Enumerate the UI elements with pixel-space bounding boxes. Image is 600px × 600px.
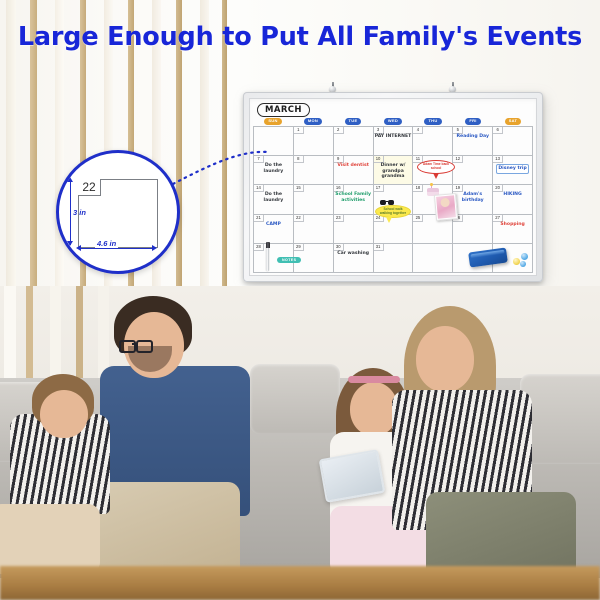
weekday-header-wed: WED xyxy=(373,117,413,126)
calendar-event-text: Disney trip xyxy=(496,164,529,173)
calendar-event-text: CAMP xyxy=(255,222,292,227)
calendar-cell[interactable]: 16School Family activities xyxy=(334,185,374,214)
calendar-event-text: Adam's birthday xyxy=(454,192,491,203)
girl-headband xyxy=(348,376,400,383)
photo-sticker xyxy=(434,193,458,221)
weekday-label: SUN xyxy=(264,118,281,125)
calendar-date-number: 6 xyxy=(493,127,503,134)
calendar-cell[interactable]: 19Adam's birthday xyxy=(453,185,493,214)
calendar-cell[interactable]: 5Reading Day xyxy=(453,127,493,156)
calendar-event-text: Car washing xyxy=(335,251,372,256)
calendar-event-text: School Family activities xyxy=(335,192,372,203)
height-dim-line xyxy=(70,180,71,245)
weekday-header-tue: TUE xyxy=(333,117,373,126)
calendar-event-text: Do the laundry xyxy=(255,192,292,203)
girl-head xyxy=(350,382,398,436)
weekday-header-row: SUNMONTUEWEDTHUFRISAT xyxy=(253,117,533,126)
calendar-date-number: 21 xyxy=(254,215,264,222)
height-arrow-top xyxy=(67,177,73,182)
sofa-cushion-right xyxy=(520,374,600,464)
weekday-header-sun: SUN xyxy=(253,117,293,126)
calendar-cell[interactable]: 20HIKING xyxy=(493,185,533,214)
calendar-date-number: 19 xyxy=(453,185,463,192)
calendar-date-number: 15 xyxy=(294,185,304,192)
calendar-date-number: 20 xyxy=(493,185,503,192)
weekday-label: MON xyxy=(304,118,322,125)
calendar-date-number: 29 xyxy=(294,244,304,251)
calendar-date-number: 27 xyxy=(493,215,503,222)
calendar-cell[interactable] xyxy=(254,127,294,156)
wall-screw-left xyxy=(328,82,337,92)
calendar-cell[interactable]: 9Visit dentist xyxy=(334,156,374,185)
calendar-date-number: 23 xyxy=(334,215,344,222)
calendar-event-text: PAY INTERNET xyxy=(375,134,412,139)
calendar-cell[interactable]: 1 xyxy=(294,127,334,156)
calendar-date-number: 1 xyxy=(294,127,304,134)
calendar-cell[interactable]: 7Do the laundry xyxy=(254,156,294,185)
boy-legs xyxy=(0,504,100,574)
calendar-cell[interactable]: 8 xyxy=(294,156,334,185)
calendar-cell[interactable]: 10Dinner w/ grandpa grandma xyxy=(374,156,414,185)
calendar-cell[interactable]: 21CAMP xyxy=(254,215,294,244)
calendar-cell[interactable]: 14Do the laundry xyxy=(254,185,294,214)
calendar-date-number: 7 xyxy=(254,156,264,163)
calendar-date-number: 8 xyxy=(294,156,304,163)
sticky-note-yellow[interactable]: School walk walking together xyxy=(375,205,411,218)
calendar-cell[interactable]: 31 xyxy=(374,244,414,273)
calendar-date-number: 12 xyxy=(453,156,463,163)
calendar-cell[interactable]: 4 xyxy=(413,127,453,156)
calendar-date-number: 18 xyxy=(413,185,423,192)
width-arrow-left xyxy=(76,245,81,251)
calendar-cell[interactable]: 6 xyxy=(493,127,533,156)
calendar-cell[interactable] xyxy=(413,244,453,273)
board-surface: MARCH SUNMONTUEWEDTHUFRISAT 123PAY INTER… xyxy=(249,98,537,276)
calendar-event-text: Dinner w/ grandpa grandma xyxy=(375,163,412,179)
calendar-date-number: 14 xyxy=(254,185,264,192)
month-title: MARCH xyxy=(257,103,310,117)
sticky-note-red-tail xyxy=(433,173,439,179)
width-dimension-label: 4.6 in xyxy=(95,239,118,248)
weekday-header-thu: THU xyxy=(413,117,453,126)
mother-head xyxy=(416,326,474,392)
weekday-label: FRI xyxy=(465,118,480,125)
calendar-cell[interactable]: 15 xyxy=(294,185,334,214)
calendar-date-number: 2 xyxy=(334,127,344,134)
height-arrow-bottom xyxy=(67,241,73,246)
calendar-event-text: Reading Day xyxy=(454,134,491,139)
calendar-date-number: 31 xyxy=(374,244,384,251)
weekday-header-mon: MON xyxy=(293,117,333,126)
calendar-cell[interactable]: 2 xyxy=(334,127,374,156)
calendar-date-number: 17 xyxy=(374,185,384,192)
calendar-date-number: 13 xyxy=(493,156,503,163)
calendar-cell[interactable]: 12 xyxy=(453,156,493,185)
magnified-date-number: 22 xyxy=(78,179,101,196)
sofa-cushion-center xyxy=(250,364,340,434)
calendar-date-number: 3 xyxy=(374,127,384,134)
calendar-cell[interactable]: 24 xyxy=(374,215,414,244)
page-title: Large Enough to Put All Family's Events xyxy=(0,22,600,52)
calendar-date-number: 4 xyxy=(413,127,423,134)
calendar-cell[interactable]: 22 xyxy=(294,215,334,244)
weekday-label: TUE xyxy=(345,118,362,125)
family-lifestyle-photo xyxy=(0,286,600,600)
calendar-cell[interactable]: 26 xyxy=(453,215,493,244)
width-arrow-right xyxy=(152,245,157,251)
wall-screw-right xyxy=(448,82,457,92)
sticky-note-yellow-tail xyxy=(386,217,392,223)
magnet-yellow[interactable] xyxy=(513,258,520,265)
dry-erase-marker[interactable] xyxy=(266,246,269,271)
magnet-blue-2[interactable] xyxy=(520,261,526,267)
coffee-table-edge xyxy=(0,566,600,600)
boy-head xyxy=(40,390,88,438)
width-dim-line xyxy=(80,248,154,249)
dimension-magnifier-callout: 22 3 in 4.6 in xyxy=(56,150,180,274)
calendar-cell[interactable]: 23 xyxy=(334,215,374,244)
calendar-event-text: Shopping xyxy=(494,222,531,227)
calendar-event-text: HIKING xyxy=(494,192,531,197)
calendar-date-number: 25 xyxy=(413,215,423,222)
height-dimension-label: 3 in xyxy=(73,208,86,217)
calendar-date-number: 5 xyxy=(453,127,463,134)
calendar-event-text: Do the laundry xyxy=(255,163,292,174)
calendar-date-number: 30 xyxy=(334,244,344,251)
calendar-cell[interactable]: 3PAY INTERNET xyxy=(374,127,414,156)
product-image-stage: Large Enough to Put All Family's Events … xyxy=(0,0,600,600)
notes-section-label: NOTES xyxy=(277,257,301,263)
calendar-cell[interactable]: 27Shopping xyxy=(493,215,533,244)
magnet-blue-1[interactable] xyxy=(521,253,528,260)
weekday-label: WED xyxy=(384,118,402,125)
calendar-cell[interactable]: 30Car washing xyxy=(334,244,374,273)
dry-erase-calendar-board[interactable]: MARCH SUNMONTUEWEDTHUFRISAT 123PAY INTER… xyxy=(243,92,543,282)
weekday-label: THU xyxy=(424,118,441,125)
calendar-cell[interactable]: 13Disney trip xyxy=(493,156,533,185)
calendar-date-number: 28 xyxy=(254,244,264,251)
calendar-event-text: Visit dentist xyxy=(335,163,372,168)
weekday-header-fri: FRI xyxy=(453,117,493,126)
sticky-note-red[interactable]: Adam Time back school xyxy=(417,160,455,174)
calendar-date-number: 22 xyxy=(294,215,304,222)
weekday-header-sat: SAT xyxy=(493,117,533,126)
weekday-label: SAT xyxy=(505,118,522,125)
